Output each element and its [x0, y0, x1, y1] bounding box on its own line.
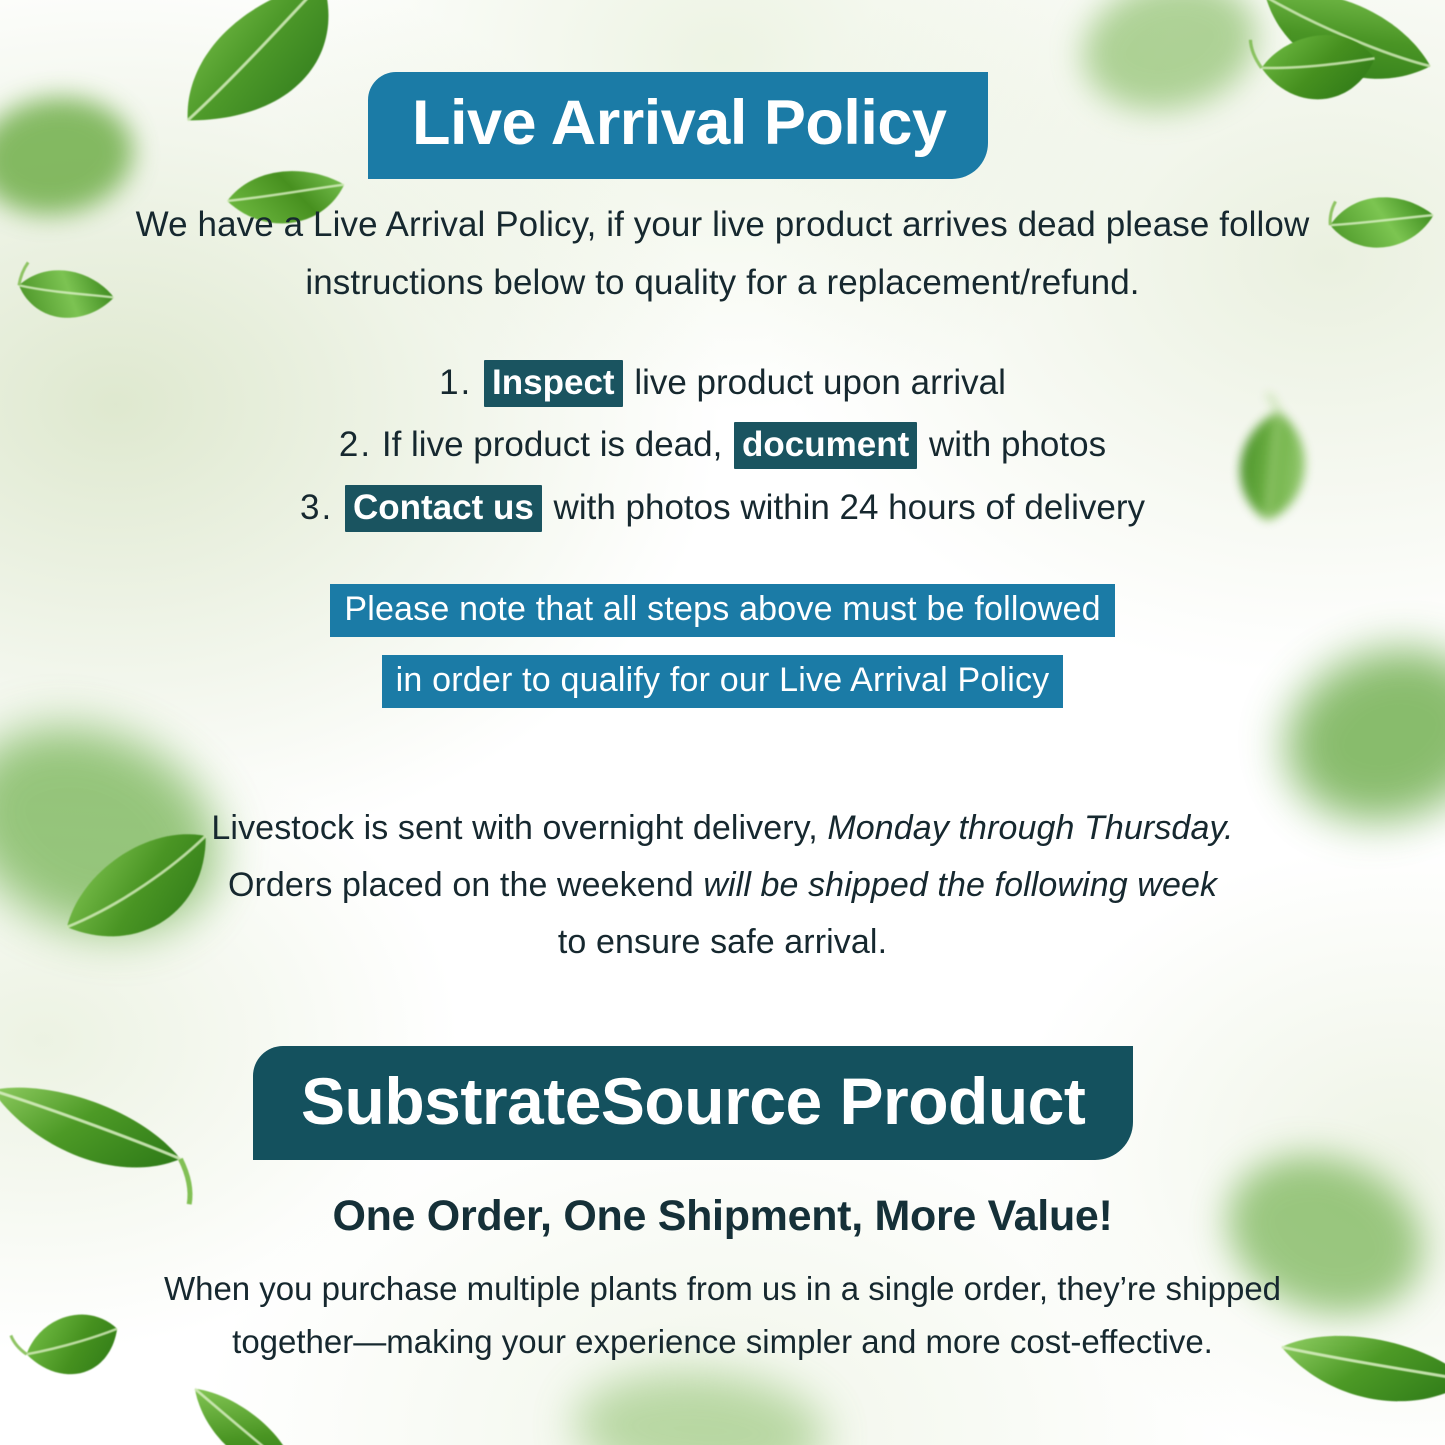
intro-paragraph: We have a Live Arrival Policy, if your l… [0, 196, 1445, 312]
value-line-2: together—making your experience simpler … [0, 1315, 1445, 1368]
step-1-after: live product upon arrival [634, 363, 1006, 402]
steps-list: 1. Inspect live product upon arrival 2. … [0, 352, 1445, 539]
shipping-paragraph: Livestock is sent with overnight deliver… [0, 800, 1445, 971]
list-item: 3. Contact us with photos within 24 hour… [0, 477, 1445, 539]
step-3-number: 3. [300, 488, 333, 527]
step-2-highlight: document [734, 422, 917, 469]
intro-line-1: We have a Live Arrival Policy, if your l… [0, 196, 1445, 254]
shipping-line-2: Orders placed on the weekend will be shi… [0, 857, 1445, 914]
substratesource-product-banner: SubstrateSource Product [253, 1046, 1133, 1160]
value-paragraph: When you purchase multiple plants from u… [0, 1262, 1445, 1369]
live-arrival-policy-banner: Live Arrival Policy [368, 72, 988, 179]
poster-canvas: Live Arrival Policy We have a Live Arriv… [0, 0, 1445, 1445]
value-subheading: One Order, One Shipment, More Value! [0, 1192, 1445, 1241]
list-item: 2. If live product is dead, document wit… [0, 414, 1445, 476]
shipping-line-2-plain: Orders placed on the weekend [228, 866, 694, 904]
step-2-number: 2. [339, 425, 372, 464]
step-2-after: with photos [929, 425, 1106, 464]
value-line-1: When you purchase multiple plants from u… [0, 1262, 1445, 1315]
policy-note-line-1: Please note that all steps above must be… [330, 584, 1114, 637]
shipping-line-1: Livestock is sent with overnight deliver… [0, 800, 1445, 857]
shipping-line-1-plain: Livestock is sent with overnight deliver… [211, 809, 817, 847]
intro-line-2: instructions below to quality for a repl… [0, 254, 1445, 312]
policy-note-line-2: in order to qualify for our Live Arrival… [382, 655, 1064, 708]
shipping-line-1-italic: Monday through Thursday. [827, 809, 1233, 847]
step-3-after: with photos within 24 hours of delivery [554, 488, 1145, 527]
poster-content: Live Arrival Policy We have a Live Arriv… [0, 0, 1445, 1445]
shipping-line-3: to ensure safe arrival. [0, 914, 1445, 971]
step-3-highlight: Contact us [345, 485, 542, 532]
list-item: 1. Inspect live product upon arrival [0, 352, 1445, 414]
step-1-highlight: Inspect [484, 360, 623, 407]
step-1-number: 1. [439, 363, 472, 402]
policy-note-block: Please note that all steps above must be… [0, 584, 1445, 708]
step-2-before: If live product is dead, [382, 425, 722, 464]
shipping-line-2-italic: will be shipped the following week [703, 866, 1217, 904]
